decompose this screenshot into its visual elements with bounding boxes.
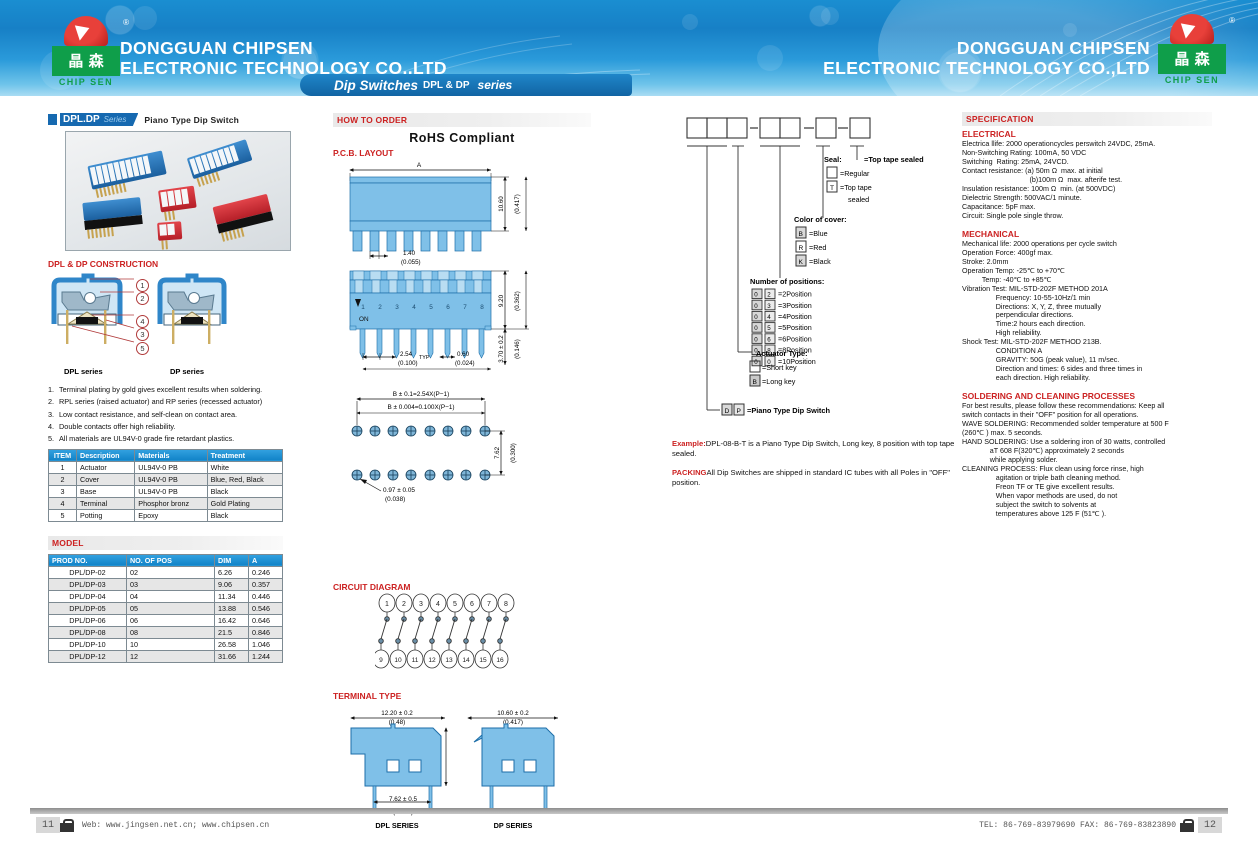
table-cell: 0.446 bbox=[249, 590, 283, 602]
dpl-cross-section bbox=[54, 276, 120, 344]
svg-text:10: 10 bbox=[394, 657, 402, 664]
table-cell: 2 bbox=[49, 473, 77, 485]
svg-text:6: 6 bbox=[470, 601, 474, 608]
family-code-1: D bbox=[725, 408, 730, 415]
seal-opt-2: sealed bbox=[848, 195, 869, 204]
dim-h1-in: (0.417) bbox=[514, 194, 521, 214]
svg-text:7: 7 bbox=[487, 601, 491, 608]
electrical-head: ELECTRICAL bbox=[962, 129, 1212, 139]
dim-dpl-w-mm: 12.20 ± 0.2 bbox=[381, 710, 413, 717]
dp-cross-section bbox=[160, 276, 224, 344]
model-table: PROD NO.NO. OF POSDIMADPL/DP-02026.260.2… bbox=[48, 554, 283, 663]
construction-section: DPL & DP CONSTRUCTION bbox=[48, 259, 298, 379]
table-cell: Phosphor bronz bbox=[135, 497, 207, 509]
series-tab-codes: DPL & DP bbox=[423, 80, 470, 91]
construction-title: DPL & DP CONSTRUCTION bbox=[48, 259, 298, 269]
circuit-top-pins bbox=[379, 594, 514, 612]
packing-text: All Dip Switches are shipped in standard… bbox=[672, 468, 950, 487]
position-option-text: =5Position bbox=[778, 323, 812, 332]
switch-photo-blue-large bbox=[87, 150, 168, 198]
table-cell: 1.244 bbox=[249, 650, 283, 662]
column-header: A bbox=[249, 554, 283, 566]
table-cell: Potting bbox=[77, 509, 135, 521]
svg-text:8: 8 bbox=[480, 304, 484, 311]
table-cell: Black bbox=[207, 509, 282, 521]
table-row: 1ActuatorUL94V-0 PBWhite bbox=[49, 461, 283, 473]
dim-hole-mm: 0.97 ± 0.05 bbox=[383, 487, 415, 494]
table-row: DPL/DP-02026.260.246 bbox=[49, 566, 283, 578]
dim-h2-mm: 9.20 bbox=[498, 294, 505, 307]
dim-b-in: B ± 0.004=0.100X(P−1) bbox=[387, 404, 454, 411]
position-code-2: 3 bbox=[767, 303, 771, 310]
svg-text:5: 5 bbox=[453, 601, 457, 608]
position-code-1: 0 bbox=[754, 292, 758, 299]
table-cell: 0.646 bbox=[249, 614, 283, 626]
family-code-2: P bbox=[737, 408, 742, 415]
column-header: Description bbox=[77, 449, 135, 461]
footer-contact-group: TEL: 86-769-83979690 FAX: 86-769-8382389… bbox=[971, 817, 1228, 833]
logo-dome-icon-right bbox=[1170, 14, 1214, 44]
table-cell: 10 bbox=[126, 638, 214, 650]
actuator-code-1: B bbox=[753, 379, 758, 386]
footer-web: Web: www.jingsen.net.cn; www.chipsen.cn bbox=[82, 821, 269, 830]
table-cell: 26.58 bbox=[215, 638, 249, 650]
switch-photo-red-right bbox=[212, 194, 275, 242]
footer-row: 11 Web: www.jingsen.net.cn; www.chipsen.… bbox=[30, 814, 1228, 836]
feature-item: 1.Terminal plating by gold gives excelle… bbox=[48, 385, 298, 394]
dim-pitch-in: (0.100) bbox=[398, 360, 418, 367]
feature-text: Low contact resistance, and self-clean o… bbox=[59, 410, 237, 419]
circuit-switch-levers bbox=[379, 617, 509, 644]
registered-mark: ® bbox=[123, 18, 129, 27]
callout-1: 1 bbox=[136, 279, 149, 292]
logo-right: ® 晶 森 CHIP SEN bbox=[1158, 14, 1226, 74]
position-code-1: 0 bbox=[754, 325, 758, 332]
feature-item: 3.Low contact resistance, and self-clean… bbox=[48, 410, 298, 419]
table-row: DPL/DP-060616.420.646 bbox=[49, 614, 283, 626]
dim-hole-in: (0.038) bbox=[385, 496, 405, 503]
dim-pitch-mm: 2.54 bbox=[400, 351, 413, 358]
svg-text:1: 1 bbox=[361, 304, 365, 311]
actuator-opt-1: =Long key bbox=[762, 377, 796, 386]
order-code-column: Seal: =Top tape sealed =Regular T =Top t… bbox=[672, 112, 957, 487]
pcb-layout-title: P.C.B. LAYOUT bbox=[333, 148, 591, 158]
dim-pin-mm: 0.60 bbox=[457, 351, 470, 358]
feature-text: All materials are UL94V-0 grade fire ret… bbox=[59, 434, 234, 443]
table-row: 5PottingEpoxyBlack bbox=[49, 509, 283, 521]
logo-latin-name-right: CHIP SEN bbox=[1158, 75, 1226, 85]
footer-contact: TEL: 86-769-83979690 FAX: 86-769-8382389… bbox=[979, 821, 1176, 830]
pcb-top-view: A 10.60 (0.417) bbox=[350, 162, 526, 266]
table-cell: DPL/DP-08 bbox=[49, 626, 127, 638]
position-code-2: 4 bbox=[767, 314, 771, 321]
table-cell: DPL/DP-12 bbox=[49, 650, 127, 662]
dim-pin-in: (0.024) bbox=[455, 360, 475, 367]
svg-text:5: 5 bbox=[429, 304, 433, 311]
table-cell: 0.546 bbox=[249, 602, 283, 614]
page-number-right: 12 bbox=[1198, 817, 1222, 833]
tag-square-marker bbox=[48, 114, 57, 125]
table-cell: White bbox=[207, 461, 282, 473]
family-text: =Piano Type Dip Switch bbox=[747, 406, 831, 415]
table-cell: 31.66 bbox=[215, 650, 249, 662]
svg-text:8: 8 bbox=[504, 601, 508, 608]
table-cell: 1.046 bbox=[249, 638, 283, 650]
callout-2: 2 bbox=[136, 292, 149, 305]
dim-a-label: A bbox=[417, 162, 422, 169]
product-photo bbox=[65, 131, 291, 251]
table-cell: 11.34 bbox=[215, 590, 249, 602]
svg-text:15: 15 bbox=[479, 657, 487, 664]
dim-w1-in: (0.055) bbox=[401, 259, 421, 266]
table-header-row: ITEMDescriptionMaterialsTreatment bbox=[49, 449, 283, 461]
feature-item: 4.Double contacts offer high reliability… bbox=[48, 422, 298, 431]
hole-row-top bbox=[352, 426, 490, 436]
construction-diagram bbox=[48, 270, 298, 362]
dim-b-mm: B ± 0.1=2.54X(P−1) bbox=[393, 391, 449, 398]
logo-left: ® 晶 森 CHIP SEN bbox=[52, 16, 120, 76]
feature-text: Double contacts offer high reliability. bbox=[59, 422, 176, 431]
switch-photo-blue-bottom bbox=[82, 197, 143, 239]
column-header: NO. OF POS bbox=[126, 554, 214, 566]
svg-text:9: 9 bbox=[379, 657, 383, 664]
svg-text:11: 11 bbox=[412, 657, 419, 664]
table-cell: 02 bbox=[126, 566, 214, 578]
table-cell: 4 bbox=[49, 497, 77, 509]
order-color-group: Color of cover: B =Blue R =Red K =Black bbox=[794, 215, 847, 266]
feature-item: 2.RPL series (raised actuator) and RP se… bbox=[48, 397, 298, 406]
left-column: DPL.DP Series Piano Type Dip Switch bbox=[48, 113, 298, 663]
series-tab-series-word: series bbox=[478, 78, 513, 92]
specification-column: SPECIFICATION ELECTRICAL Electrica llife… bbox=[962, 112, 1212, 519]
company-name-left: DONGGUAN CHIPSEN ELECTRONIC TECHNOLOGY C… bbox=[120, 38, 447, 78]
position-code-2: 6 bbox=[767, 336, 771, 343]
callout-3: 3 bbox=[136, 328, 149, 341]
table-row: 2CoverUL94V-0 PBBlue, Red, Black bbox=[49, 473, 283, 485]
svg-text:13: 13 bbox=[445, 657, 453, 664]
series-tab-title: Dip Switches bbox=[334, 78, 418, 93]
pcb-front-view: 1234 5678 ON 9.20 (0.362) bbox=[350, 271, 529, 369]
position-code-1: 0 bbox=[754, 303, 758, 310]
table-row: 4TerminalPhosphor bronzGold Plating bbox=[49, 497, 283, 509]
briefcase-icon-right bbox=[1180, 819, 1194, 832]
seal-code-1: T bbox=[830, 185, 834, 192]
switch-photo-red-small bbox=[157, 221, 183, 250]
logo-dome-icon bbox=[64, 16, 108, 46]
svg-text:1: 1 bbox=[385, 601, 389, 608]
table-cell: Gold Plating bbox=[207, 497, 282, 509]
mechanical-head: MECHANICAL bbox=[962, 229, 1212, 239]
middle-column: HOW TO ORDER RoHS Compliant P.C.B. LAYOU… bbox=[333, 113, 591, 835]
color-code-0: B bbox=[799, 231, 804, 238]
column-header: ITEM bbox=[49, 449, 77, 461]
actuator-opt-0: =Short key bbox=[762, 363, 797, 372]
registered-mark-right: ® bbox=[1229, 16, 1235, 25]
dpl-series-label: DPL series bbox=[64, 367, 103, 376]
electrical-body: Electrica llife: 2000 operationcycles pe… bbox=[962, 140, 1212, 221]
tag-series-word: Series bbox=[104, 115, 127, 124]
feature-number: 1. bbox=[48, 385, 54, 394]
table-cell: Epoxy bbox=[135, 509, 207, 521]
table-cell: 03 bbox=[126, 578, 214, 590]
callout-4: 4 bbox=[136, 315, 149, 328]
table-cell: DPL/DP-04 bbox=[49, 590, 127, 602]
company-name-right: DONGGUAN CHIPSEN ELECTRONIC TECHNOLOGY C… bbox=[823, 38, 1150, 78]
company-name-right-line1: DONGGUAN CHIPSEN bbox=[823, 38, 1150, 58]
position-option-text: =6Position bbox=[778, 334, 812, 343]
table-row: DPL/DP-03039.060.357 bbox=[49, 578, 283, 590]
logo-chinese-name-right: 晶 森 bbox=[1158, 44, 1226, 74]
svg-text:4: 4 bbox=[412, 304, 416, 311]
table-cell: 6.26 bbox=[215, 566, 249, 578]
dim-h1-mm: 10.60 bbox=[498, 196, 505, 212]
table-cell: DPL/DP-02 bbox=[49, 566, 127, 578]
color-code-1: R bbox=[799, 245, 804, 252]
tag-label: Piano Type Dip Switch bbox=[144, 115, 239, 125]
dim-h3-in: (0.146) bbox=[514, 339, 521, 359]
feature-number: 3. bbox=[48, 410, 54, 419]
example-text: DPL-08-B-T is a Piano Type Dip Switch, L… bbox=[672, 439, 954, 458]
dim-w1-mm: 1.40 bbox=[403, 250, 416, 257]
table-row: DPL/DP-121231.661.244 bbox=[49, 650, 283, 662]
table-row: DPL/DP-050513.880.546 bbox=[49, 602, 283, 614]
seal-inline: =Top tape sealed bbox=[864, 155, 924, 164]
column-header: Treatment bbox=[207, 449, 282, 461]
datasheet-page: ® 晶 森 CHIP SEN DONGGUAN CHIPSEN ELECTRON… bbox=[0, 0, 1258, 859]
position-option-text: =4Position bbox=[778, 312, 812, 321]
table-cell: 3 bbox=[49, 485, 77, 497]
table-cell: UL94V-0 PB bbox=[135, 461, 207, 473]
svg-text:12: 12 bbox=[428, 657, 436, 664]
table-row: DPL/DP-040411.340.446 bbox=[49, 590, 283, 602]
table-cell: 0.846 bbox=[249, 626, 283, 638]
position-option-text: =3Position bbox=[778, 301, 812, 310]
order-seal-group: Seal: =Top tape sealed =Regular T =Top t… bbox=[824, 155, 924, 204]
color-opt-1: =Red bbox=[809, 243, 826, 252]
table-cell: DPL/DP-10 bbox=[49, 638, 127, 650]
on-label: ON bbox=[359, 316, 369, 323]
table-cell: 04 bbox=[126, 590, 214, 602]
svg-text:2: 2 bbox=[378, 304, 382, 311]
color-opt-2: =Black bbox=[809, 257, 831, 266]
logo-chinese-name: 晶 森 bbox=[52, 46, 120, 76]
soldering-head: SOLDERING AND CLEANING PROCESSES bbox=[962, 391, 1212, 401]
callout-5: 5 bbox=[136, 342, 149, 355]
table-cell: 16.42 bbox=[215, 614, 249, 626]
chipsen-logo: ® 晶 森 CHIP SEN bbox=[52, 16, 120, 76]
positions-title: Number of positions: bbox=[750, 277, 824, 286]
packing-note: PACKINGAll Dip Switches are shipped in s… bbox=[672, 468, 957, 488]
pcb-layout-drawing: A 10.60 (0.417) bbox=[333, 159, 591, 579]
switch-photo-blue-right bbox=[187, 139, 256, 188]
table-row: DPL/DP-080821.50.846 bbox=[49, 626, 283, 638]
circuit-diagram-title: CIRCUIT DIAGRAM bbox=[333, 582, 591, 592]
table-cell: Blue, Red, Black bbox=[207, 473, 282, 485]
table-cell: 5 bbox=[49, 509, 77, 521]
dp-series-label: DP series bbox=[170, 367, 204, 376]
svg-text:3: 3 bbox=[395, 304, 399, 311]
tag-plate: DPL.DP Series bbox=[60, 113, 138, 126]
svg-text:3: 3 bbox=[419, 601, 423, 608]
soldering-body: For best results, please follow these re… bbox=[962, 402, 1212, 519]
table-row: DPL/DP-101026.581.046 bbox=[49, 638, 283, 650]
feature-number: 2. bbox=[48, 397, 54, 406]
table-cell: 08 bbox=[126, 626, 214, 638]
table-cell: Terminal bbox=[77, 497, 135, 509]
dim-h3-mm: 3.70 ± 0.2 bbox=[498, 335, 505, 363]
hole-row-bottom bbox=[352, 470, 490, 480]
table-header-row: PROD NO.NO. OF POSDIMA bbox=[49, 554, 283, 566]
company-name-line1: DONGGUAN CHIPSEN bbox=[120, 38, 447, 58]
table-cell: Base bbox=[77, 485, 135, 497]
table-cell: DPL/DP-06 bbox=[49, 614, 127, 626]
table-cell: UL94V-0 PB bbox=[135, 473, 207, 485]
materials-table: ITEMDescriptionMaterialsTreatment1Actuat… bbox=[48, 449, 283, 522]
svg-text:7: 7 bbox=[463, 304, 467, 311]
dim-lead-mm: 7.62 ± 0.5 bbox=[389, 796, 417, 803]
packing-label: PACKING bbox=[672, 468, 706, 477]
column-header: Materials bbox=[135, 449, 207, 461]
dim-dp-w-mm: 10.60 ± 0.2 bbox=[497, 710, 529, 717]
table-row: 3BaseUL94V-0 PBBlack bbox=[49, 485, 283, 497]
model-tag: DPL.DP Series Piano Type Dip Switch bbox=[48, 113, 298, 126]
part-number-breakdown: Seal: =Top tape sealed =Regular T =Top t… bbox=[672, 112, 957, 432]
table-cell: Actuator bbox=[77, 461, 135, 473]
chipsen-logo-right: ® 晶 森 CHIP SEN bbox=[1158, 14, 1226, 74]
model-title: MODEL bbox=[48, 536, 283, 550]
feature-text: Terminal plating by gold gives excellent… bbox=[59, 385, 262, 394]
model-section: MODEL PROD NO.NO. OF POSDIMADPL/DP-02026… bbox=[48, 536, 283, 663]
circuit-diagram: 1234 5678 bbox=[375, 593, 633, 683]
color-title: Color of cover: bbox=[794, 215, 847, 224]
table-cell: 1 bbox=[49, 461, 77, 473]
color-opt-0: =Blue bbox=[809, 229, 828, 238]
seal-opt-1: =Top tape bbox=[840, 183, 872, 192]
company-name-right-line2: ELECTRONIC TECHNOLOGY CO.,LTD bbox=[823, 58, 1150, 78]
switch-photo-red-center bbox=[158, 186, 198, 222]
feature-number: 4. bbox=[48, 422, 54, 431]
color-code-2: K bbox=[799, 259, 804, 266]
order-family-group: D P =Piano Type Dip Switch bbox=[722, 404, 831, 415]
page-number-left: 11 bbox=[36, 817, 60, 833]
position-code-1: 0 bbox=[754, 336, 758, 343]
table-cell: DPL/DP-05 bbox=[49, 602, 127, 614]
page-footer: 11 Web: www.jingsen.net.cn; www.chipsen.… bbox=[30, 808, 1228, 836]
svg-text:16: 16 bbox=[496, 657, 504, 664]
table-cell: 05 bbox=[126, 602, 214, 614]
position-code-2: 5 bbox=[767, 325, 771, 332]
position-option-text: =2Position bbox=[778, 290, 812, 299]
rohs-compliant-label: RoHS Compliant bbox=[333, 131, 591, 145]
feature-item: 5.All materials are UL94V-0 grade fire r… bbox=[48, 434, 298, 443]
briefcase-icon bbox=[60, 819, 74, 832]
position-code-1: 0 bbox=[754, 314, 758, 321]
dim-h2-in: (0.362) bbox=[514, 291, 521, 311]
pcb-hole-pattern: B ± 0.1=2.54X(P−1) B ± 0.004=0.100X(P−1) bbox=[352, 391, 517, 503]
terminal-type-title: TERMINAL TYPE bbox=[333, 691, 591, 701]
position-code-1: 0 bbox=[754, 359, 758, 366]
example-label: Example: bbox=[672, 439, 706, 448]
series-tab: Dip Switches DPL & DP series bbox=[300, 74, 632, 96]
feature-text: RPL series (raised actuator) and RP seri… bbox=[59, 397, 262, 406]
table-cell: 9.06 bbox=[215, 578, 249, 590]
features-list: 1.Terminal plating by gold gives excelle… bbox=[48, 385, 298, 444]
table-cell: 13.88 bbox=[215, 602, 249, 614]
position-code-2: 2 bbox=[767, 292, 771, 299]
column-header: DIM bbox=[215, 554, 249, 566]
table-cell: DPL/DP-03 bbox=[49, 578, 127, 590]
example-note: Example:DPL-08-B-T is a Piano Type Dip S… bbox=[672, 439, 957, 459]
actuator-title: Actuator Type: bbox=[756, 349, 808, 358]
table-cell: 21.5 bbox=[215, 626, 249, 638]
svg-text:4: 4 bbox=[436, 601, 440, 608]
table-cell: Black bbox=[207, 485, 282, 497]
table-cell: 0.357 bbox=[249, 578, 283, 590]
materials-table-wrap: ITEMDescriptionMaterialsTreatment1Actuat… bbox=[48, 449, 283, 522]
specification-title: SPECIFICATION bbox=[962, 112, 1212, 126]
feature-number: 5. bbox=[48, 434, 54, 443]
logo-latin-name: CHIP SEN bbox=[52, 77, 120, 87]
table-cell: Cover bbox=[77, 473, 135, 485]
column-header: PROD NO. bbox=[49, 554, 127, 566]
table-cell: 06 bbox=[126, 614, 214, 626]
tag-model: DPL.DP bbox=[63, 114, 100, 125]
mechanical-body: Mechanical life: 2000 operations per cyc… bbox=[962, 240, 1212, 384]
svg-text:2: 2 bbox=[402, 601, 406, 608]
table-cell: 12 bbox=[126, 650, 214, 662]
order-actuator-group: Actuator Type: =Short key B =Long key bbox=[750, 349, 808, 386]
svg-text:6: 6 bbox=[446, 304, 450, 311]
table-cell: 0.246 bbox=[249, 566, 283, 578]
dim-row-in: (0.300) bbox=[510, 443, 517, 463]
header-banner: ® 晶 森 CHIP SEN DONGGUAN CHIPSEN ELECTRON… bbox=[0, 0, 1258, 96]
dim-pitch-typ: TYP bbox=[419, 355, 430, 361]
dim-row-mm: 7.62 bbox=[494, 446, 501, 459]
seal-opt-0: =Regular bbox=[840, 169, 870, 178]
how-to-order-title: HOW TO ORDER bbox=[333, 113, 591, 127]
svg-text:14: 14 bbox=[462, 657, 470, 664]
table-cell: UL94V-0 PB bbox=[135, 485, 207, 497]
seal-title: Seal: bbox=[824, 155, 842, 164]
